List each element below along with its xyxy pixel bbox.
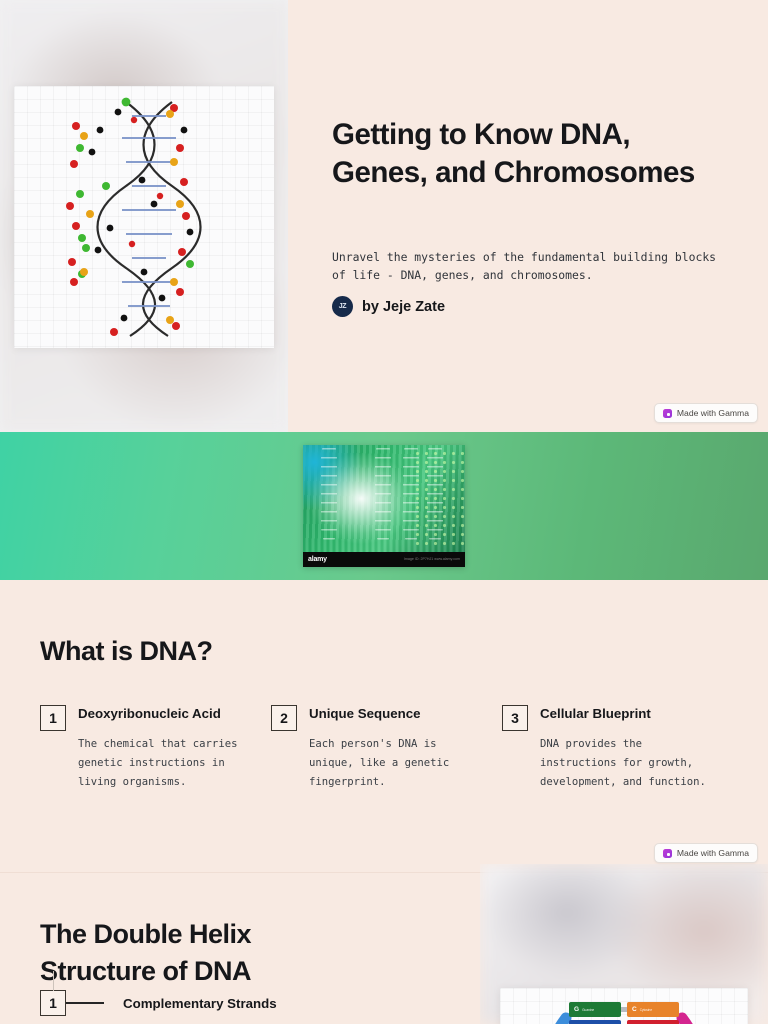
- card-number-badge: 1: [40, 705, 66, 731]
- green-image-slide: alamy Image ID: 2P7HJ1 www.alamy.com: [0, 432, 768, 580]
- card-text: DNA provides the instructions for growth…: [540, 735, 706, 792]
- dna-molecular-model-image: [14, 86, 274, 348]
- table-row: GGuanine CCytosine: [569, 1002, 679, 1017]
- card-text: The chemical that carries genetic instru…: [78, 735, 244, 792]
- base-left-G: GGuanine: [569, 1002, 621, 1017]
- made-with-gamma-badge-1[interactable]: Made with Gamma: [654, 403, 758, 423]
- base-right-C: CCytosine: [627, 1002, 679, 1017]
- dna-helix-illustration: [14, 86, 274, 348]
- timeline-number-badge: 1: [40, 990, 66, 1016]
- what-is-dna-slide: What is DNA? 1 Deoxyribonucleic Acid The…: [0, 580, 768, 872]
- hero-slide: Getting to Know DNA, Genes, and Chromoso…: [0, 0, 768, 432]
- timeline-item: 1 Complementary Strands: [40, 990, 277, 1016]
- card-title: Cellular Blueprint: [540, 705, 706, 723]
- hero-image-panel: [0, 0, 288, 432]
- base-left-A: AAdenine: [569, 1020, 621, 1024]
- hero-text-panel: Getting to Know DNA, Genes, and Chromoso…: [288, 0, 768, 432]
- base-pair-image-panel: GGuanine CCytosine AAdenine TThymine: [480, 864, 768, 1024]
- card-title: Unique Sequence: [309, 705, 475, 723]
- gamma-logo-icon: [663, 849, 672, 858]
- timeline-label: Complementary Strands: [123, 996, 277, 1011]
- cell-dots-pattern: [413, 449, 465, 551]
- timeline-connector-horizontal: [66, 1002, 104, 1004]
- presentation-page: Getting to Know DNA, Genes, and Chromoso…: [0, 0, 768, 1024]
- section-heading-double-helix: The Double Helix Structure of DNA: [40, 916, 370, 989]
- gamma-badge-label: Made with Gamma: [677, 848, 749, 858]
- table-row: AAdenine TThymine: [569, 1020, 679, 1024]
- timeline-connector-vertical: [53, 971, 54, 991]
- dna-cards-row: 1 Deoxyribonucleic Acid The chemical tha…: [40, 705, 728, 791]
- made-with-gamma-badge-2[interactable]: Made with Gamma: [654, 843, 758, 863]
- card-text: Each person's DNA is unique, like a gene…: [309, 735, 475, 792]
- base-right-T: TThymine: [627, 1020, 679, 1024]
- section-heading-what-is-dna: What is DNA?: [40, 636, 728, 667]
- timeline-number: 1: [49, 995, 57, 1011]
- list-item: 2 Unique Sequence Each person's DNA is u…: [271, 705, 475, 791]
- alamy-watermark: alamy: [308, 556, 327, 563]
- hero-subtitle: Unravel the mysteries of the fundamental…: [332, 248, 732, 285]
- alamy-image-id: Image ID: 2P7HJ1 www.alamy.com: [404, 557, 460, 562]
- page-title: Getting to Know DNA, Genes, and Chromoso…: [332, 116, 712, 192]
- card-number-badge: 3: [502, 705, 528, 731]
- dna-base-pair-diagram: GGuanine CCytosine AAdenine TThymine: [500, 988, 748, 1024]
- card-number-badge: 2: [271, 705, 297, 731]
- watermark-bar: alamy Image ID: 2P7HJ1 www.alamy.com: [303, 552, 465, 567]
- author-name: by Jeje Zate: [362, 299, 445, 315]
- green-dna-strands-stock-image: alamy Image ID: 2P7HJ1 www.alamy.com: [303, 445, 465, 567]
- list-item: 3 Cellular Blueprint DNA provides the in…: [502, 705, 706, 791]
- list-item: 1 Deoxyribonucleic Acid The chemical tha…: [40, 705, 244, 791]
- avatar: JZ: [332, 296, 353, 317]
- base-pair-rows: GGuanine CCytosine AAdenine TThymine: [569, 1002, 679, 1024]
- author-byline: JZ by Jeje Zate: [332, 296, 445, 317]
- gamma-badge-label: Made with Gamma: [677, 408, 749, 418]
- card-title: Deoxyribonucleic Acid: [78, 705, 244, 723]
- gamma-logo-icon: [663, 409, 672, 418]
